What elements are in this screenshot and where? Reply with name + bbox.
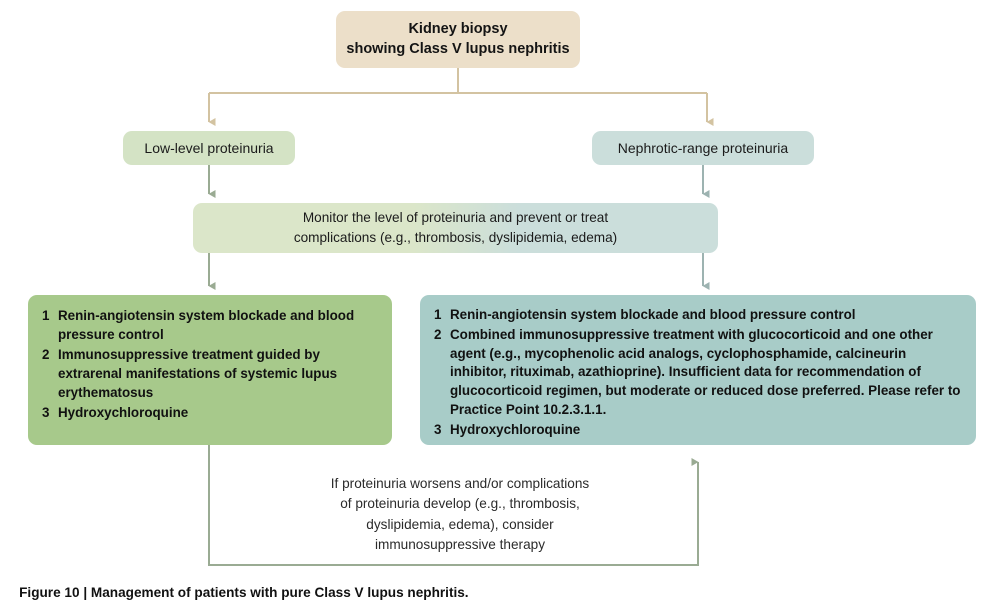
figure-title: Management of patients with pure Class V…	[91, 585, 469, 600]
list-item-text: Renin-angiotensin system blockade and bl…	[450, 306, 964, 325]
list-item-number: 2	[42, 345, 58, 364]
node-kidney-biopsy: Kidney biopsy showing Class V lupus neph…	[336, 11, 580, 68]
figure-caption: Figure 10 | Management of patients with …	[4, 570, 804, 615]
feedback-line3: dyslipidemia, edema), consider	[366, 517, 553, 532]
node-monitor-proteinuria-text: Monitor the level of proteinuria and pre…	[294, 208, 617, 247]
list-item: 2 Immunosuppressive treatment guided by …	[42, 345, 380, 402]
node-kidney-biopsy-text: Kidney biopsy showing Class V lupus neph…	[346, 20, 569, 59]
list-item-number: 2	[434, 326, 450, 345]
list-item-text: Hydroxychloroquine	[58, 403, 380, 422]
list-item: 1 Renin-angiotensin system blockade and …	[42, 306, 380, 344]
figure-number: Figure 10	[19, 585, 79, 600]
feedback-loop-caption: If proteinuria worsens and/or complicati…	[272, 474, 648, 556]
list-item-number: 3	[434, 421, 450, 440]
right-treatment-list: 1 Renin-angiotensin system blockade and …	[434, 306, 964, 440]
list-item: 3 Hydroxychloroquine	[42, 403, 380, 422]
list-item-text: Renin-angiotensin system blockade and bl…	[58, 306, 380, 344]
left-treatment-list: 1 Renin-angiotensin system blockade and …	[42, 306, 380, 423]
feedback-line2: of proteinuria develop (e.g., thrombosis…	[340, 496, 580, 511]
list-item-text: Hydroxychloroquine	[450, 421, 964, 440]
node-kidney-biopsy-line1: Kidney biopsy	[408, 21, 507, 37]
node-monitor-line1: Monitor the level of proteinuria and pre…	[303, 210, 608, 225]
list-item-text: Immunosuppressive treatment guided by ex…	[58, 345, 380, 402]
connector-biopsy-split	[209, 68, 707, 122]
list-item: 1 Renin-angiotensin system blockade and …	[434, 306, 964, 325]
node-low-level-proteinuria: Low-level proteinuria	[123, 131, 295, 165]
node-kidney-biopsy-line2: showing Class V lupus nephritis	[346, 41, 569, 57]
node-right-treatment: 1 Renin-angiotensin system blockade and …	[420, 295, 976, 445]
list-item-number: 1	[42, 306, 58, 325]
feedback-line4: immunosuppressive therapy	[375, 537, 545, 552]
feedback-line1: If proteinuria worsens and/or complicati…	[331, 476, 589, 491]
list-item: 3 Hydroxychloroquine	[434, 421, 964, 440]
node-monitor-line2: complications (e.g., thrombosis, dyslipi…	[294, 230, 617, 245]
node-low-level-proteinuria-label: Low-level proteinuria	[144, 140, 273, 157]
node-left-treatment: 1 Renin-angiotensin system blockade and …	[28, 295, 392, 445]
list-item-number: 1	[434, 306, 450, 325]
node-monitor-proteinuria: Monitor the level of proteinuria and pre…	[193, 203, 718, 253]
node-nephrotic-range-proteinuria-label: Nephrotic-range proteinuria	[618, 140, 788, 157]
figure-canvas: Kidney biopsy showing Class V lupus neph…	[0, 0, 1000, 600]
list-item-text: Combined immunosuppressive treatment wit…	[450, 326, 964, 420]
list-item-number: 3	[42, 403, 58, 422]
node-nephrotic-range-proteinuria: Nephrotic-range proteinuria	[592, 131, 814, 165]
list-item: 2 Combined immunosuppressive treatment w…	[434, 326, 964, 420]
